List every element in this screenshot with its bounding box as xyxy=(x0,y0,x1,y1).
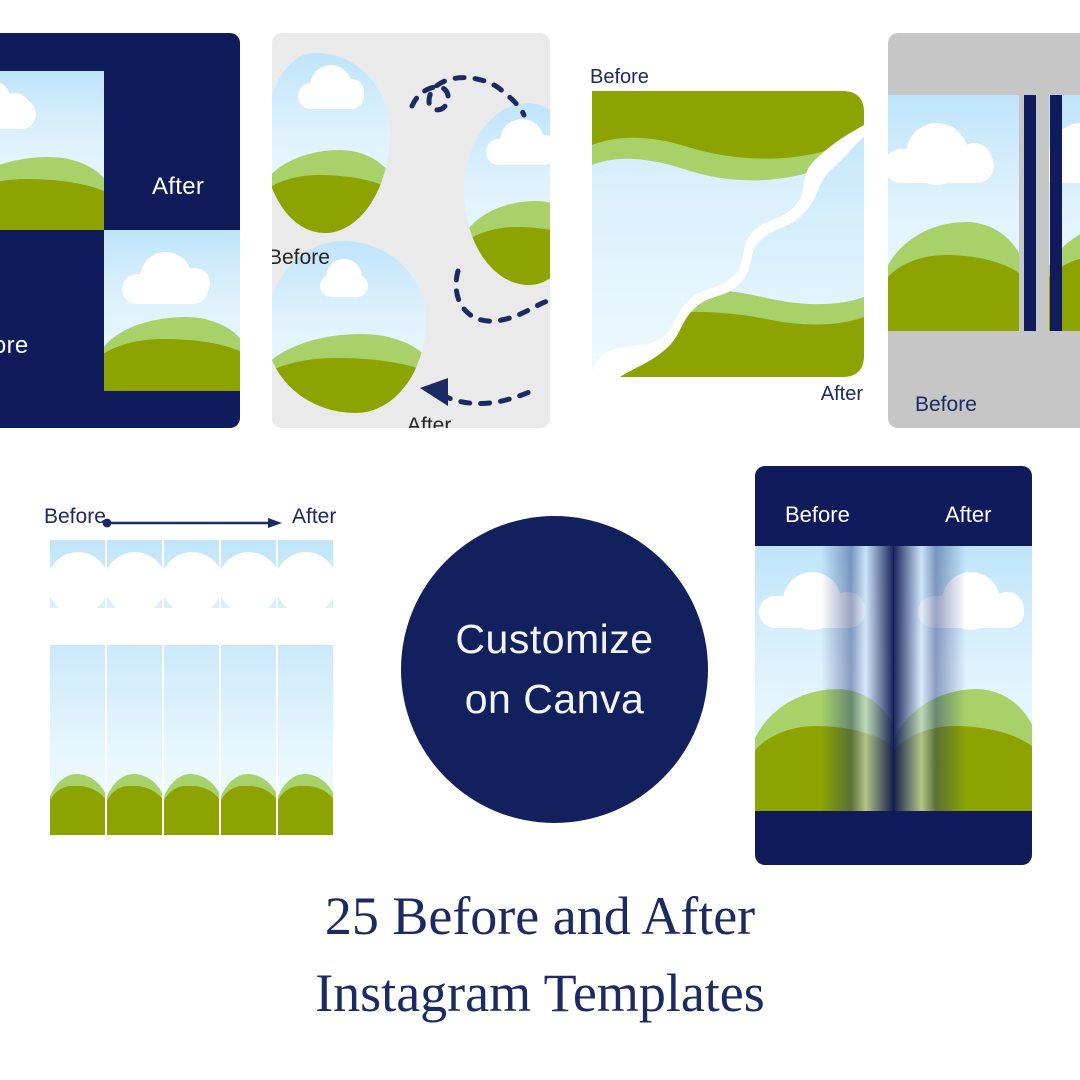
customize-on-canva-badge[interactable]: Customize on Canva xyxy=(401,516,708,823)
gradient-overlay-right xyxy=(821,546,893,811)
label-before: Before xyxy=(590,66,649,89)
filmstrip-cell xyxy=(164,540,219,608)
scene-thumbnail-top-left xyxy=(0,71,104,230)
poster-canvas: After Before xyxy=(0,0,1080,1080)
wave-split-artwork xyxy=(592,91,864,377)
filmstrip-cell xyxy=(221,645,276,835)
arrow-head-icon xyxy=(420,378,448,406)
gradient-overlay-left xyxy=(894,546,966,811)
title-line-2: Instagram Templates xyxy=(0,955,1080,1032)
filmstrip-cell xyxy=(107,540,162,608)
filmstrip-cell xyxy=(107,645,162,835)
arc-mask xyxy=(107,552,162,608)
dashed-route-icon xyxy=(272,33,550,428)
template-card-filmstrip[interactable]: Before After xyxy=(22,495,330,835)
divider-bar-left xyxy=(1024,95,1036,331)
poster-title: 25 Before and After Instagram Templates xyxy=(0,878,1080,1031)
label-after: After xyxy=(292,505,336,529)
filmstrip-header: Before After xyxy=(22,495,330,537)
label-before: Before xyxy=(915,393,977,417)
filmstrip-row-bottom xyxy=(50,645,330,835)
scene-after-half xyxy=(894,546,1032,811)
badge-line-2: on Canva xyxy=(465,670,645,729)
arc-mask xyxy=(164,552,219,608)
arc-mask xyxy=(278,552,333,608)
label-before: Before xyxy=(272,246,330,270)
label-before: Before xyxy=(0,332,29,360)
cloud-icon xyxy=(122,274,208,304)
filmstrip-cell xyxy=(221,540,276,608)
filmstrip-cell xyxy=(50,645,105,835)
filmstrip-cell xyxy=(164,645,219,835)
hill-front xyxy=(888,255,1019,331)
progress-arrow-icon xyxy=(102,517,282,529)
scene-before-pane xyxy=(888,95,1019,331)
template-card-wave-split[interactable]: Before xyxy=(588,58,864,403)
filmstrip-cell xyxy=(278,645,333,835)
label-after: After xyxy=(407,414,451,428)
template-card-split-gradient[interactable]: Before After xyxy=(755,466,1032,865)
hill-front xyxy=(0,179,104,230)
hill-front xyxy=(104,339,240,391)
arc-mask xyxy=(50,552,105,608)
template-card-blob-path[interactable]: Before After xyxy=(272,33,550,428)
arc-mask xyxy=(221,552,276,608)
scene-thumbnail-bottom-right xyxy=(104,230,240,391)
badge-line-1: Customize xyxy=(455,610,653,669)
label-before: Before xyxy=(44,505,106,529)
template-card-gray-bars[interactable]: Before xyxy=(888,33,1080,428)
filmstrip-cell xyxy=(278,540,333,608)
divider-bar-right xyxy=(1050,95,1062,331)
cloud-icon xyxy=(0,99,36,129)
label-after: After xyxy=(821,383,863,406)
scene-before-half xyxy=(755,546,893,811)
label-after: After xyxy=(152,173,204,201)
label-before: Before xyxy=(785,502,850,528)
title-line-1: 25 Before and After xyxy=(0,878,1080,955)
cloud-icon xyxy=(888,149,994,183)
label-after: After xyxy=(945,502,991,528)
filmstrip-row-top xyxy=(50,540,330,608)
filmstrip-cell xyxy=(50,540,105,608)
template-card-quad-split[interactable]: After Before xyxy=(0,33,240,428)
